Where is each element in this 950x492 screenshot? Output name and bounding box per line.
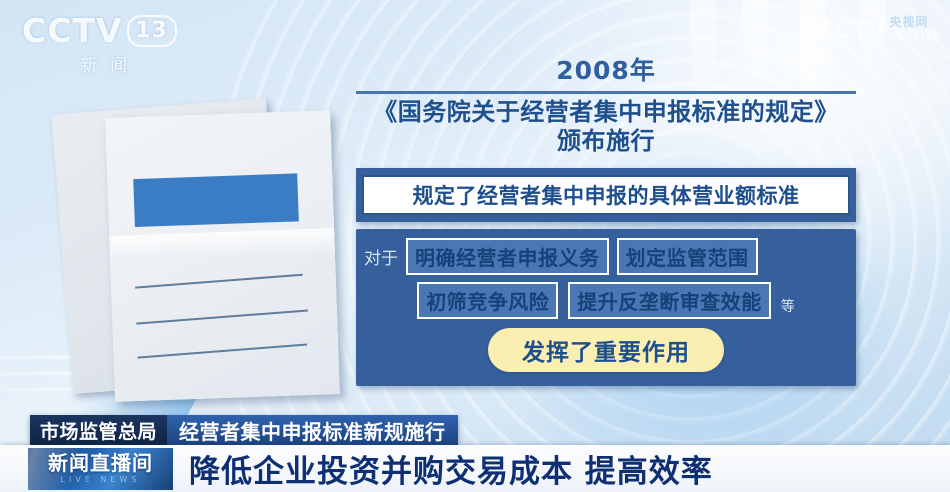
benefits-row-2: 初筛竞争风险 提升反垄断审查效能 等 [364,282,848,319]
cctv-com-watermark: CCTV 央视网 .com [818,16,938,44]
panel-title-line-2: 颁布施行 [356,127,856,156]
channel-logo-text: CCTV [22,14,123,48]
channel-number-badge: 13 [127,15,177,47]
ticker-topic-label: 经营者集中申报标准新规施行 [167,415,458,445]
watermark-cctv-text: CCTV [818,17,885,43]
benefit-chip: 划定监管范围 [617,238,758,275]
panel-divider-rule [356,91,856,94]
document-fold-highlight [109,228,335,262]
benefits-card: 对于 明确经营者申报义务 划定监管范围 初筛竞争风险 提升反垄断审查效能 等 发… [356,229,856,386]
benefits-tail-label: 等 [781,296,795,319]
broadcast-frame: CCTV 13 新闻 CCTV 央视网 .com 2008年 《国务院关于经营者… [0,0,950,492]
info-panel: 2008年 《国务院关于经营者集中申报标准的规定》 颁布施行 规定了经营者集中申… [356,56,856,386]
channel-logo-row: CCTV 13 [22,14,172,48]
benefits-row-1: 对于 明确经营者申报义务 划定监管范围 [364,238,848,275]
statement-card: 规定了经营者集中申报的具体营业额标准 [356,168,856,222]
document-text-line [135,274,303,289]
program-name-english: LIVE NEWS [61,475,141,484]
document-header-block [133,173,299,227]
benefit-chip: 明确经营者申报义务 [406,238,609,275]
watermark-chinese-text: 央视网 [889,16,938,28]
watermark-domain-text: .com [889,26,938,44]
conclusion-row: 发挥了重要作用 [364,328,848,372]
lower-third-ticker: 市场监管总局 经营者集中申报标准新规施行 [30,415,458,445]
ticker-agency-label: 市场监管总局 [30,415,167,445]
conclusion-pill: 发挥了重要作用 [488,328,724,372]
program-name-chinese: 新闻直播间 [48,453,153,474]
document-text-line [137,344,307,359]
headline-bar: 新闻直播间 LIVE NEWS 降低企业投资并购交易成本 提高效率 [0,445,950,492]
document-sheet-front [105,110,340,402]
channel-logo-subtitle: 新闻 [22,51,172,76]
statement-text: 规定了经营者集中申报的具体营业额标准 [362,175,850,215]
benefit-chip: 提升反垄断审查效能 [568,282,771,319]
document-text-line [136,309,308,324]
background-vertical-stripe [860,0,886,110]
watermark-right-group: 央视网 .com [889,16,938,44]
program-brand-badge: 新闻直播间 LIVE NEWS [28,448,173,490]
panel-year-label: 2008年 [356,56,856,86]
benefit-chip: 初筛竞争风险 [417,282,558,319]
headline-text: 降低企业投资并购交易成本 提高效率 [189,446,713,491]
panel-title-line-1: 《国务院关于经营者集中申报标准的规定》 [356,98,856,127]
cctv13-channel-logo: CCTV 13 新闻 [22,14,172,70]
document-illustration [58,100,358,400]
benefits-lead-label: 对于 [364,244,398,269]
